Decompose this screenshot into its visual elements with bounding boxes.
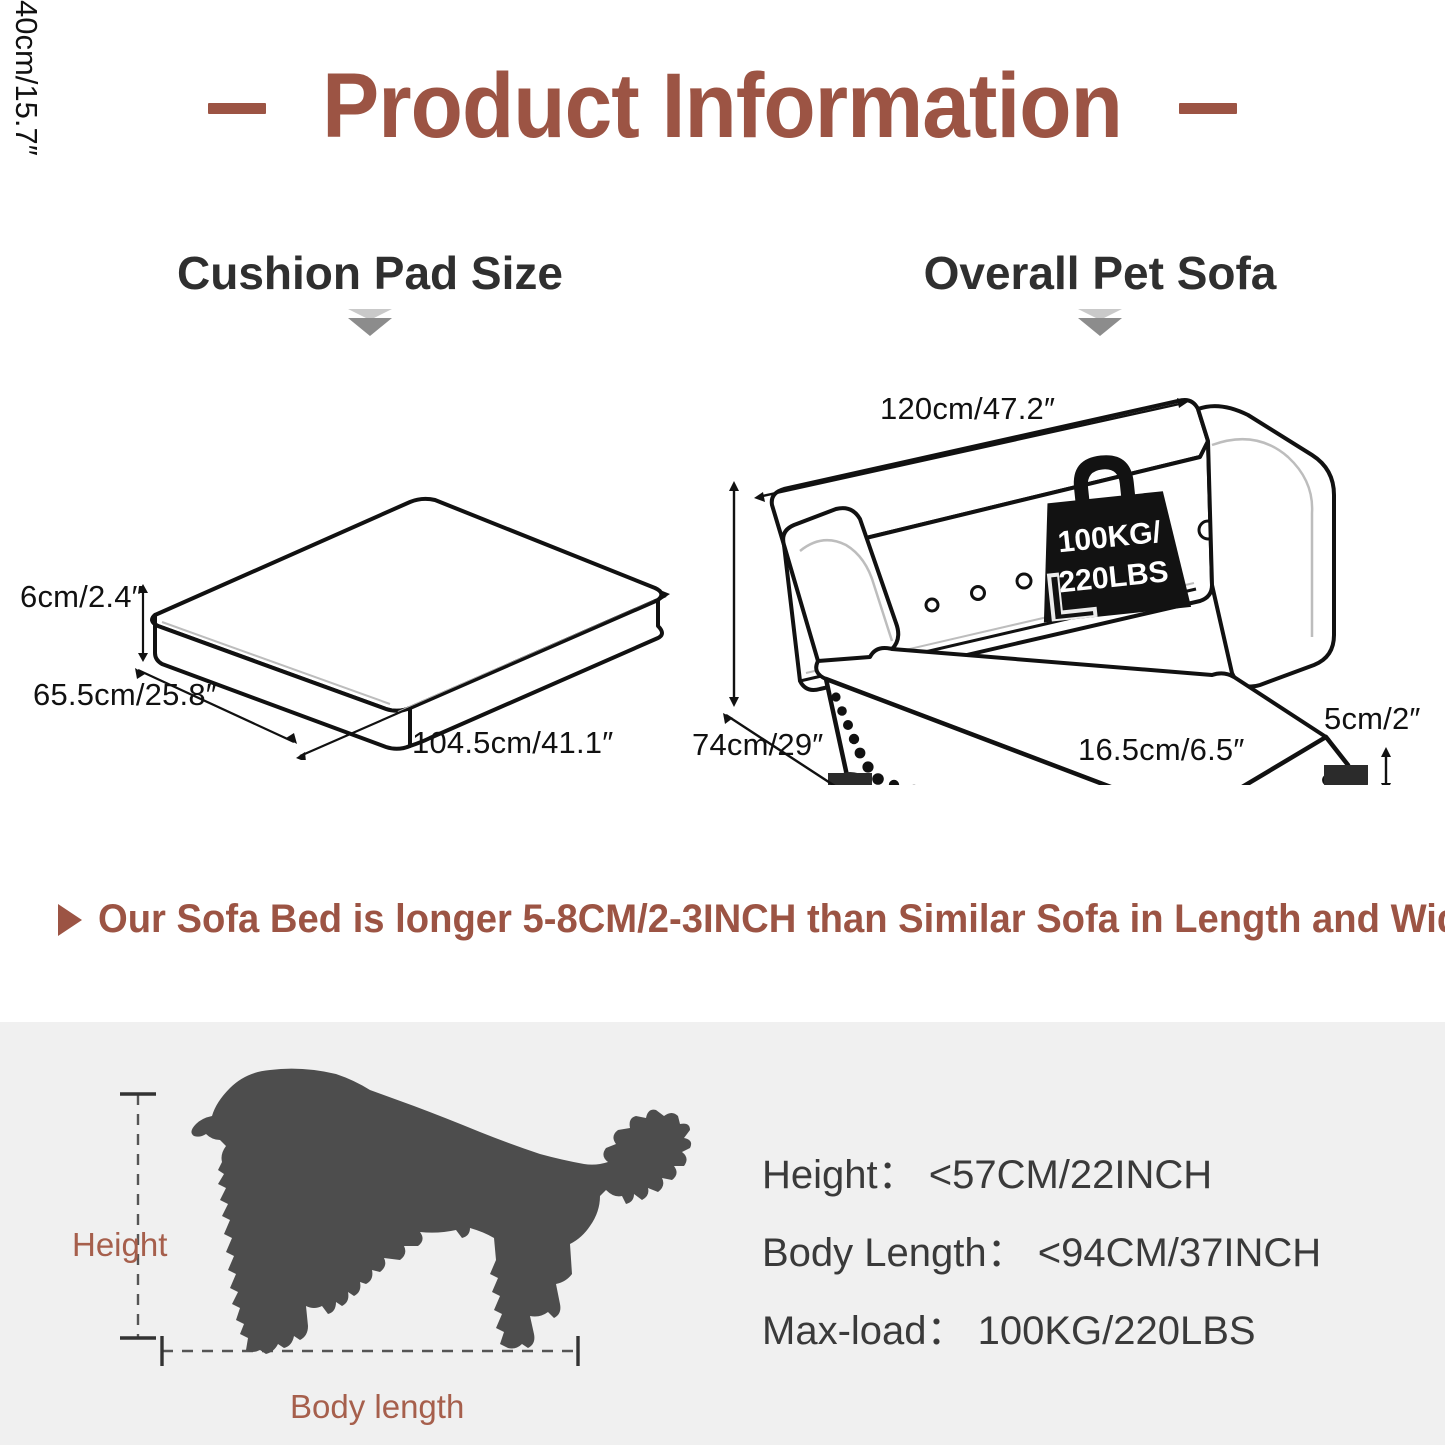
double-chevron-down-icon xyxy=(1078,309,1122,337)
sofa-depth-label: 74cm/29″ xyxy=(692,728,823,762)
cushion-length-label: 104.5cm/41.1″ xyxy=(412,726,613,760)
spec-height: Height： <57CM/22INCH xyxy=(762,1152,1321,1198)
page-title-text: Product Information xyxy=(323,58,1123,155)
triangle-right-icon xyxy=(58,904,82,936)
comparison-banner: Our Sofa Bed is longer 5-8CM/2-3INCH tha… xyxy=(58,897,1418,942)
product-information-infographic: Product Information Cushion Pad Size Ove… xyxy=(0,0,1445,1445)
sofa-leg-height-label: 5cm/2″ xyxy=(1324,702,1421,736)
section-header-cushion: Cushion Pad Size xyxy=(95,248,645,337)
double-chevron-down-icon xyxy=(348,309,392,337)
section-header-sofa: Overall Pet Sofa xyxy=(840,248,1360,337)
section-label-cushion: Cushion Pad Size xyxy=(95,248,645,299)
comparison-banner-text: Our Sofa Bed is longer 5-8CM/2-3INCH tha… xyxy=(98,897,1445,942)
dog-body-length-label: Body length xyxy=(290,1388,464,1426)
page-title: Product Information xyxy=(0,58,1445,155)
sofa-width-label: 120cm/47.2″ xyxy=(880,392,1055,426)
dog-height-label: Height xyxy=(72,1226,167,1264)
golden-retriever-silhouette-icon xyxy=(191,1069,691,1354)
sofa-base-height-label: 16.5cm/6.5″ xyxy=(1078,733,1245,767)
title-dash-left xyxy=(208,103,266,114)
section-label-sofa: Overall Pet Sofa xyxy=(840,248,1360,299)
cushion-height-label: 6cm/2.4″ xyxy=(20,580,143,614)
spec-max-load: Max-load： 100KG/220LBS xyxy=(762,1308,1321,1354)
cushion-depth-label: 65.5cm/25.8″ xyxy=(33,678,217,712)
spec-body-length: Body Length： <94CM/37INCH xyxy=(762,1230,1321,1276)
cushion-pad-3d-icon xyxy=(110,480,690,765)
title-dash-right xyxy=(1179,103,1237,114)
dog-specs-list: Height： <57CM/22INCH Body Length： <94CM/… xyxy=(762,1152,1321,1354)
